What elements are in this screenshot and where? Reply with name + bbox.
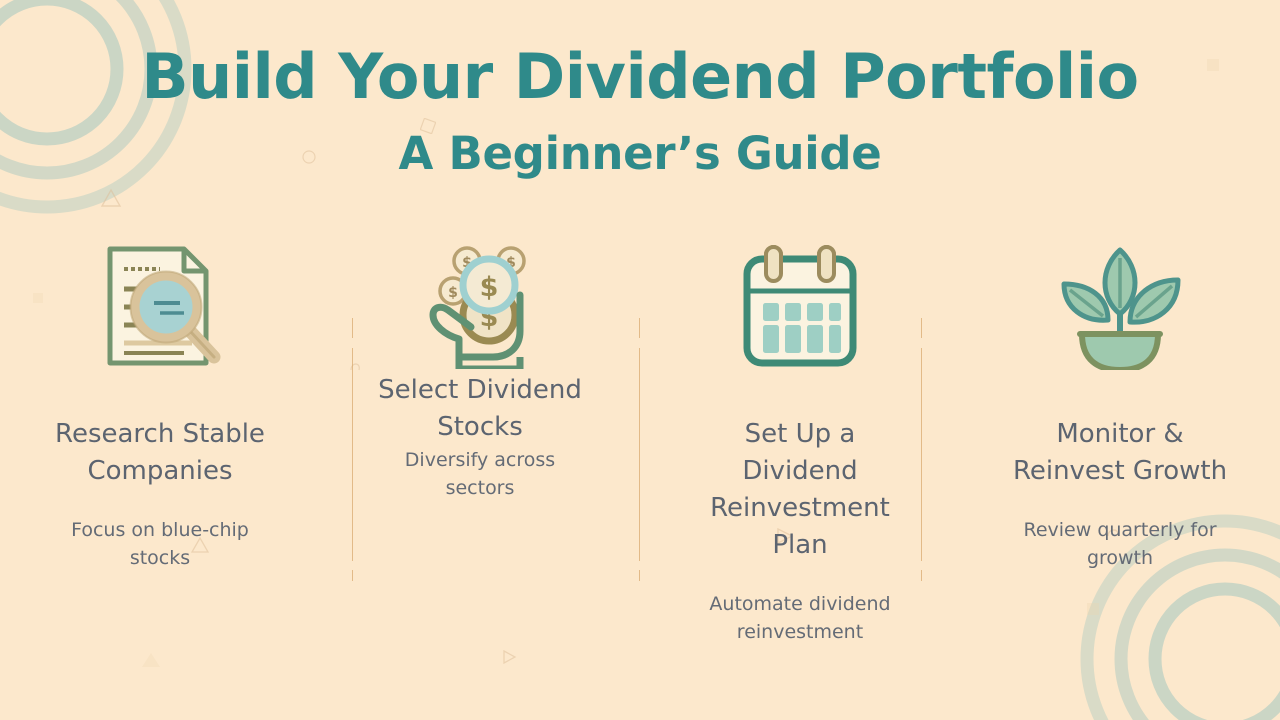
slide-canvas: Build Your Dividend Portfolio A Beginner… [0, 0, 1280, 720]
step-title: Set Up a Dividend Reinvestment Plan [685, 416, 915, 564]
step-title: Select Dividend Stocks [365, 372, 595, 446]
growing-plant-icon [1058, 240, 1182, 372]
texture-speck [500, 648, 518, 666]
step-card-research: Research Stable Companies Focus on blue-… [0, 240, 320, 573]
step-caption: Diversify across sectors [373, 446, 588, 503]
heading-block: Build Your Dividend Portfolio A Beginner… [0, 44, 1280, 178]
texture-speck [100, 188, 122, 208]
hand-coins-icon: $ $ $ $ $ [419, 240, 541, 372]
step-title: Monitor & Reinvest Growth [1005, 416, 1235, 490]
page-title: Build Your Dividend Portfolio [0, 44, 1280, 111]
step-card-reinvestment-plan: Set Up a Dividend Reinvestment Plan Auto… [640, 240, 960, 647]
step-title: Research Stable Companies [45, 416, 275, 490]
steps-row: Research Stable Companies Focus on blue-… [0, 240, 1280, 647]
svg-text:$: $ [448, 285, 458, 301]
step-card-monitor-growth: Monitor & Reinvest Growth Review quarter… [960, 240, 1280, 573]
step-caption: Focus on blue-chip stocks [53, 516, 268, 573]
step-caption: Automate dividend reinvestment [693, 590, 908, 647]
step-card-select-stocks: $ $ $ $ $ Select Dividend Stocks [320, 240, 640, 503]
texture-speck [140, 650, 162, 670]
svg-text:$: $ [480, 272, 499, 303]
document-magnifier-icon [98, 240, 222, 372]
step-caption: Review quarterly for growth [1013, 516, 1228, 573]
page-subtitle: A Beginner’s Guide [0, 129, 1280, 179]
calendar-icon [741, 240, 859, 372]
